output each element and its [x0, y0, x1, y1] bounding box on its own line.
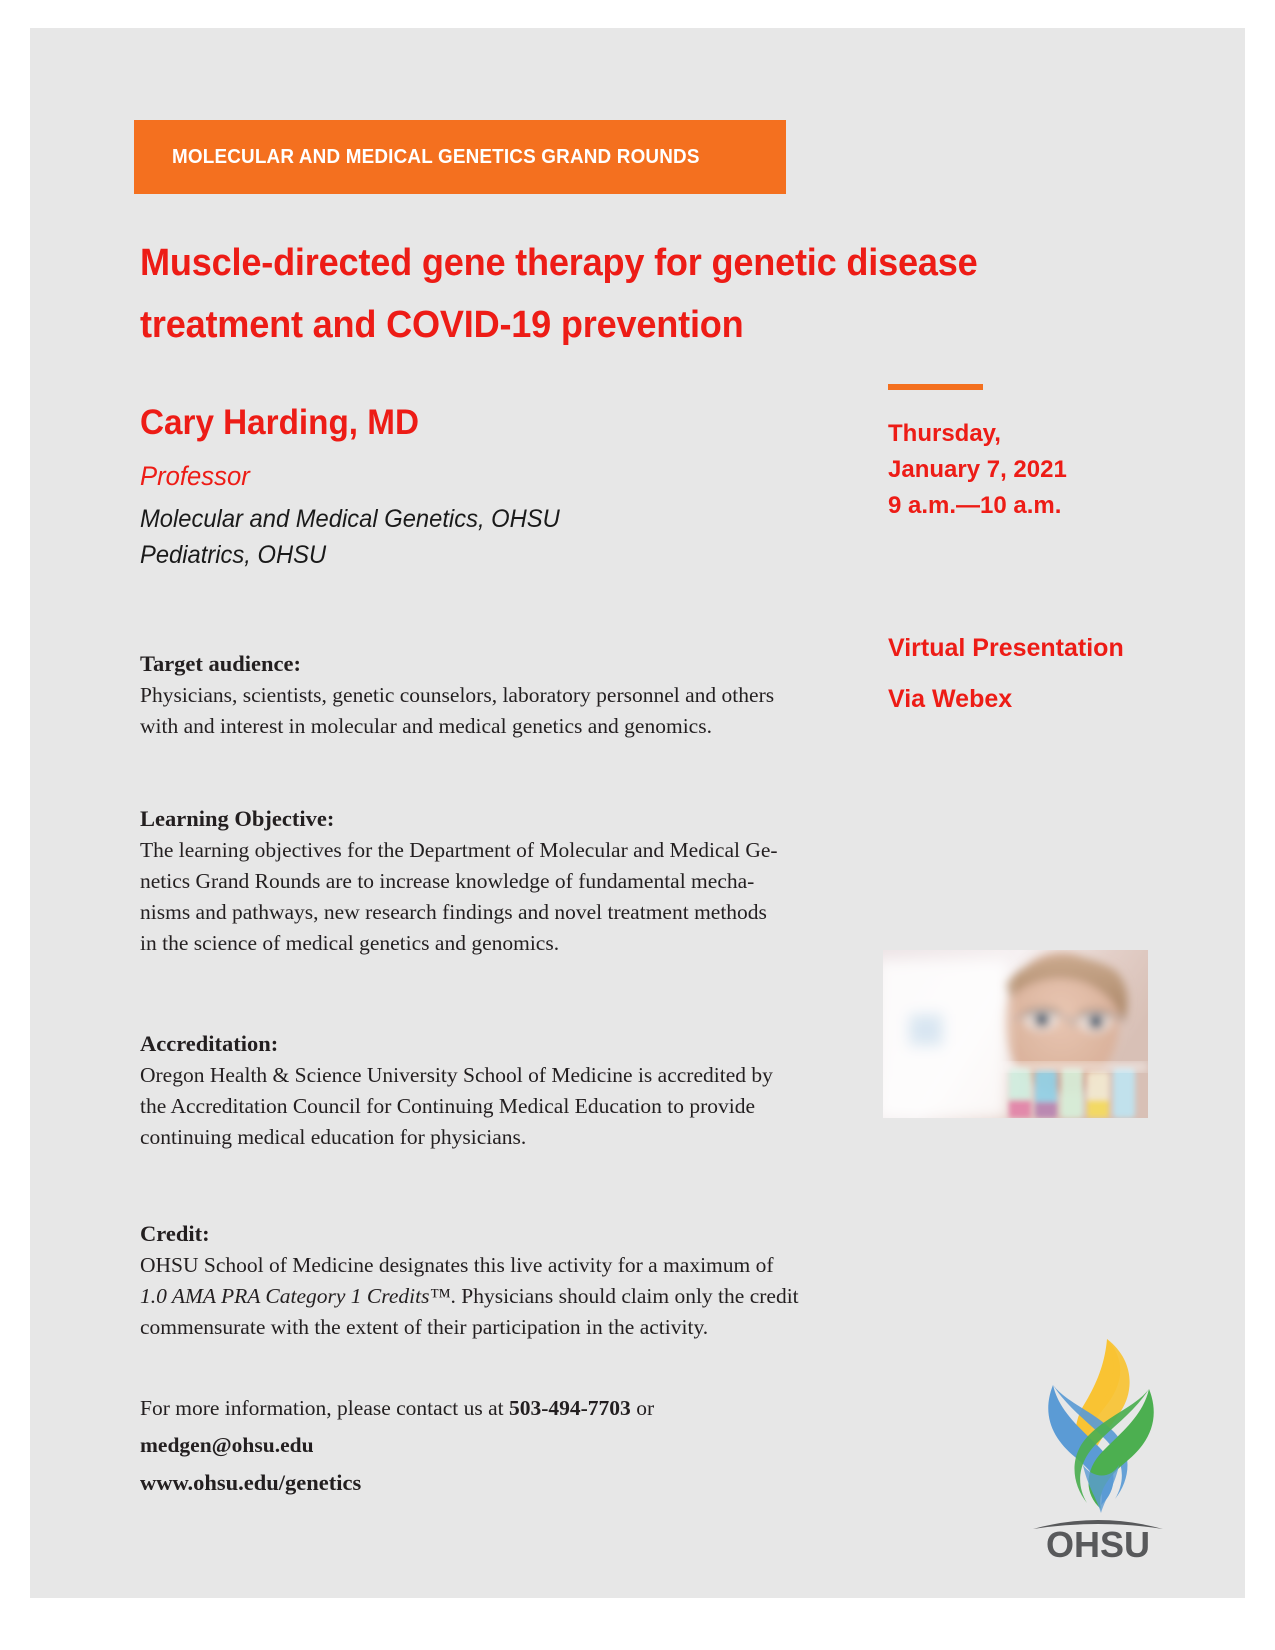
- contact-phone[interactable]: 503-494-7703: [509, 1396, 631, 1420]
- talk-title-line-1: Muscle-directed gene therapy for genetic…: [140, 232, 1014, 294]
- credit-line-rest: . Physicians should claim only the credi…: [451, 1284, 799, 1308]
- ohsu-logo: OHSU: [1023, 1333, 1173, 1561]
- contact-prefix: For more information, please contact us …: [140, 1396, 509, 1420]
- event-format-line-2: Via Webex: [888, 674, 1124, 725]
- section-credit: Credit: OHSU School of Medicine designat…: [140, 1218, 860, 1343]
- contact-email[interactable]: medgen@ohsu.edu: [140, 1433, 314, 1457]
- event-time: 9 a.m.—10 a.m.: [888, 488, 1067, 524]
- contact-line-phone: For more information, please contact us …: [140, 1390, 900, 1427]
- speaker-affiliation-1: Molecular and Medical Genetics, OHSU: [140, 501, 560, 537]
- event-format-line-1: Virtual Presentation: [888, 623, 1124, 674]
- section-heading: Target audience:: [140, 648, 860, 679]
- ohsu-flame-icon: [1048, 1339, 1153, 1513]
- event-datetime: Thursday, January 7, 2021 9 a.m.—10 a.m.: [888, 416, 1067, 524]
- body-line: Physicians, scientists, genetic counselo…: [140, 680, 860, 711]
- section-accreditation: Accreditation: Oregon Health & Science U…: [140, 1028, 860, 1153]
- section-heading: Learning Objective:: [140, 803, 860, 834]
- flyer-canvas: MOLECULAR AND MEDICAL GENETICS GRAND ROU…: [30, 28, 1245, 1598]
- talk-title-line-2: treatment and COVID-19 prevention: [140, 294, 1014, 356]
- event-date: January 7, 2021: [888, 452, 1067, 488]
- grand-rounds-banner: MOLECULAR AND MEDICAL GENETICS GRAND ROU…: [134, 120, 786, 194]
- body-line: in the science of medical genetics and g…: [140, 928, 860, 959]
- section-learning-objective: Learning Objective: The learning objecti…: [140, 803, 860, 959]
- speaker-affiliations: Molecular and Medical Genetics, OHSU Ped…: [140, 501, 560, 573]
- section-body: OHSU School of Medicine designates this …: [140, 1250, 860, 1343]
- section-body: Oregon Health & Science University Schoo…: [140, 1060, 860, 1153]
- body-line: with and interest in molecular and medic…: [140, 711, 860, 742]
- page-title: Muscle-directed gene therapy for genetic…: [140, 232, 1014, 356]
- section-target-audience: Target audience: Physicians, scientists,…: [140, 648, 860, 742]
- body-line: The learning objectives for the Departme…: [140, 835, 860, 866]
- contact-website[interactable]: www.ohsu.edu/genetics: [140, 1470, 361, 1496]
- body-line-credit-emphasis: 1.0 AMA PRA Category 1 Credits™. Physici…: [140, 1281, 860, 1312]
- event-format: Virtual Presentation Via Webex: [888, 623, 1124, 725]
- ohsu-wordmark: OHSU: [1046, 1524, 1150, 1561]
- flyer-page: MOLECULAR AND MEDICAL GENETICS GRAND ROU…: [0, 0, 1275, 1650]
- section-heading: Credit:: [140, 1218, 860, 1249]
- contact-email-line: medgen@ohsu.edu: [140, 1427, 900, 1464]
- body-line: OHSU School of Medicine designates this …: [140, 1250, 860, 1281]
- speaker-role: Professor: [140, 458, 250, 494]
- laboratory-researcher-photo: [883, 950, 1148, 1118]
- body-line: the Accreditation Council for Continuing…: [140, 1091, 860, 1122]
- speaker-affiliation-2: Pediatrics, OHSU: [140, 537, 560, 573]
- section-heading: Accreditation:: [140, 1028, 860, 1059]
- credit-emphasis-text: 1.0 AMA PRA Category 1 Credits™: [140, 1284, 451, 1308]
- body-line: nisms and pathways, new research finding…: [140, 897, 860, 928]
- body-line: commensurate with the extent of their pa…: [140, 1312, 860, 1343]
- body-line: continuing medical education for physici…: [140, 1122, 860, 1153]
- speaker-name: Cary Harding, MD: [140, 402, 419, 444]
- banner-title: MOLECULAR AND MEDICAL GENETICS GRAND ROU…: [172, 120, 700, 194]
- body-line: Oregon Health & Science University Schoo…: [140, 1060, 860, 1091]
- contact-suffix: or: [631, 1396, 654, 1420]
- event-day: Thursday,: [888, 416, 1067, 452]
- section-body: The learning objectives for the Departme…: [140, 835, 860, 959]
- section-body: Physicians, scientists, genetic counselo…: [140, 680, 860, 742]
- contact-block: For more information, please contact us …: [140, 1390, 900, 1464]
- orange-rule-divider: [888, 384, 983, 390]
- body-line: netics Grand Rounds are to increase know…: [140, 866, 860, 897]
